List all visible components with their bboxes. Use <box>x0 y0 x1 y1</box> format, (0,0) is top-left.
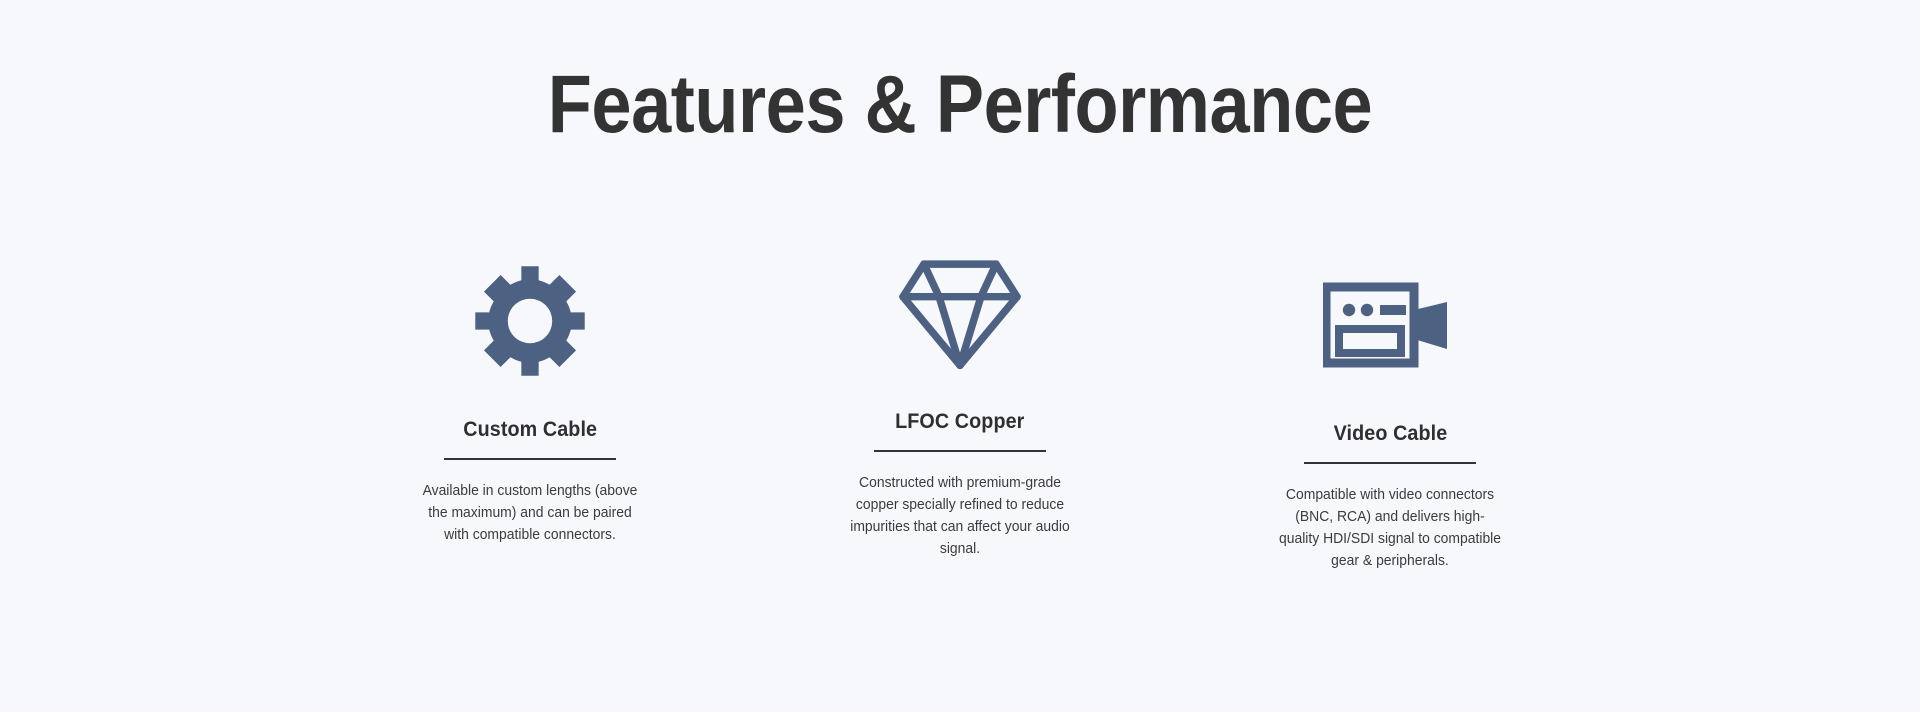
feature-description: Compatible with video connectors (BNC, R… <box>1276 484 1504 572</box>
feature-divider <box>874 450 1046 452</box>
video-camera-icon <box>1323 252 1457 390</box>
diamond-icon <box>896 248 1024 378</box>
feature-description: Constructed with premium-grade copper sp… <box>845 472 1075 560</box>
feature-columns: Custom Cable Available in custom lengths… <box>360 252 1560 572</box>
gear-icon <box>473 252 587 386</box>
feature-title: Custom Cable <box>463 418 597 442</box>
feature-title: Video Cable <box>1333 422 1447 446</box>
feature-description: Available in custom lengths (above the m… <box>419 480 642 546</box>
page-title: Features & Performance <box>115 62 1805 148</box>
feature-divider <box>1304 462 1476 464</box>
feature-title: LFOC Copper <box>895 410 1024 434</box>
feature-divider <box>444 458 616 460</box>
feature-card-video-cable: Video Cable Compatible with video connec… <box>1220 252 1560 572</box>
feature-card-lfoc-copper: LFOC Copper Constructed with premium-gra… <box>790 248 1130 560</box>
features-performance-section: Features & Performance Custom Cable Avai… <box>0 0 1920 712</box>
feature-card-custom-cable: Custom Cable Available in custom lengths… <box>360 252 700 546</box>
